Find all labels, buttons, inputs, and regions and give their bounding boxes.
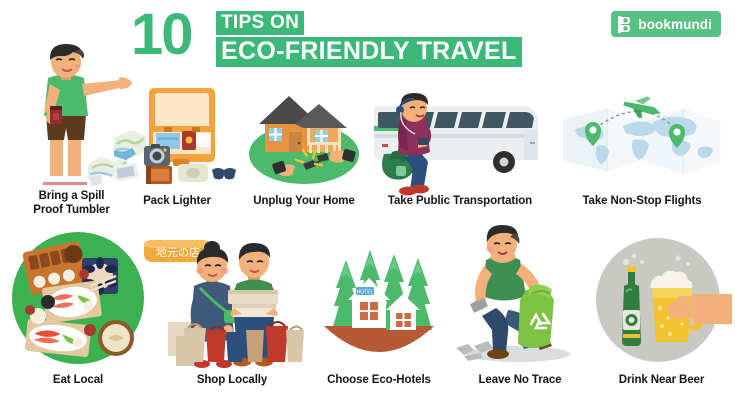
tip-card-8[interactable]: HOTEL Choose Eco-Ho bbox=[308, 222, 450, 402]
hotel-sign-text: HOTEL bbox=[357, 290, 374, 296]
tip-card-2[interactable]: Pack Lighter bbox=[112, 40, 242, 220]
tip-card-3[interactable]: Unplug Your Home bbox=[243, 40, 365, 220]
tips-row-2: Eat Local 地元の店 bbox=[0, 222, 735, 402]
tip-caption-2: Pack Lighter bbox=[112, 195, 242, 209]
bookmundi-logo[interactable]: bookmundi bbox=[611, 11, 721, 37]
tip-caption-3: Unplug Your Home bbox=[243, 195, 365, 209]
house-with-unplugged-cord-illustration bbox=[243, 82, 365, 187]
forest-cabins-on-hill-illustration: HOTEL bbox=[308, 234, 450, 370]
tip-caption-7: Shop Locally bbox=[158, 374, 306, 388]
man-picking-up-litter-illustration bbox=[452, 224, 588, 370]
shop-sign-text: 地元の店 bbox=[156, 245, 200, 259]
tips-row-1: Bring a Spill Proof Tumbler bbox=[0, 40, 735, 220]
tip-card-4[interactable]: Take Public Transportation bbox=[370, 40, 550, 220]
person-waiting-beside-bus-illustration bbox=[370, 82, 550, 187]
folded-world-map-with-flight-path-illustration bbox=[553, 86, 731, 186]
headline-line-1: TIPS ON bbox=[216, 11, 304, 35]
tip-card-10[interactable]: Drink Near Beer bbox=[592, 222, 731, 402]
couple-shopping-with-bags-illustration: 地元の店 bbox=[158, 226, 306, 370]
infographic-canvas: 10 TIPS ON ECO-FRIENDLY TRAVEL bookmundi bbox=[0, 0, 735, 412]
tip-caption-5: Take Non-Stop Flights bbox=[553, 195, 731, 209]
tip-card-7[interactable]: 地元の店 bbox=[158, 222, 306, 402]
tip-card-6[interactable]: Eat Local bbox=[4, 222, 152, 402]
tip-caption-10: Drink Near Beer bbox=[592, 374, 731, 388]
local-food-dishes-circle-illustration bbox=[4, 230, 152, 370]
tip-caption-6: Eat Local bbox=[4, 374, 152, 388]
tip-caption-4: Take Public Transportation bbox=[370, 195, 550, 209]
open-suitcase-with-travel-items-illustration bbox=[112, 82, 242, 187]
beer-bottle-and-glass-circle-illustration bbox=[592, 232, 731, 370]
tip-card-9[interactable]: Leave No Trace bbox=[452, 222, 588, 402]
tip-caption-9: Leave No Trace bbox=[452, 374, 588, 388]
logo-wordmark: bookmundi bbox=[638, 17, 712, 32]
tip-card-5[interactable]: Take Non-Stop Flights bbox=[553, 40, 731, 220]
b-monogram-icon bbox=[618, 16, 633, 33]
tip-caption-8: Choose Eco-Hotels bbox=[308, 374, 450, 388]
